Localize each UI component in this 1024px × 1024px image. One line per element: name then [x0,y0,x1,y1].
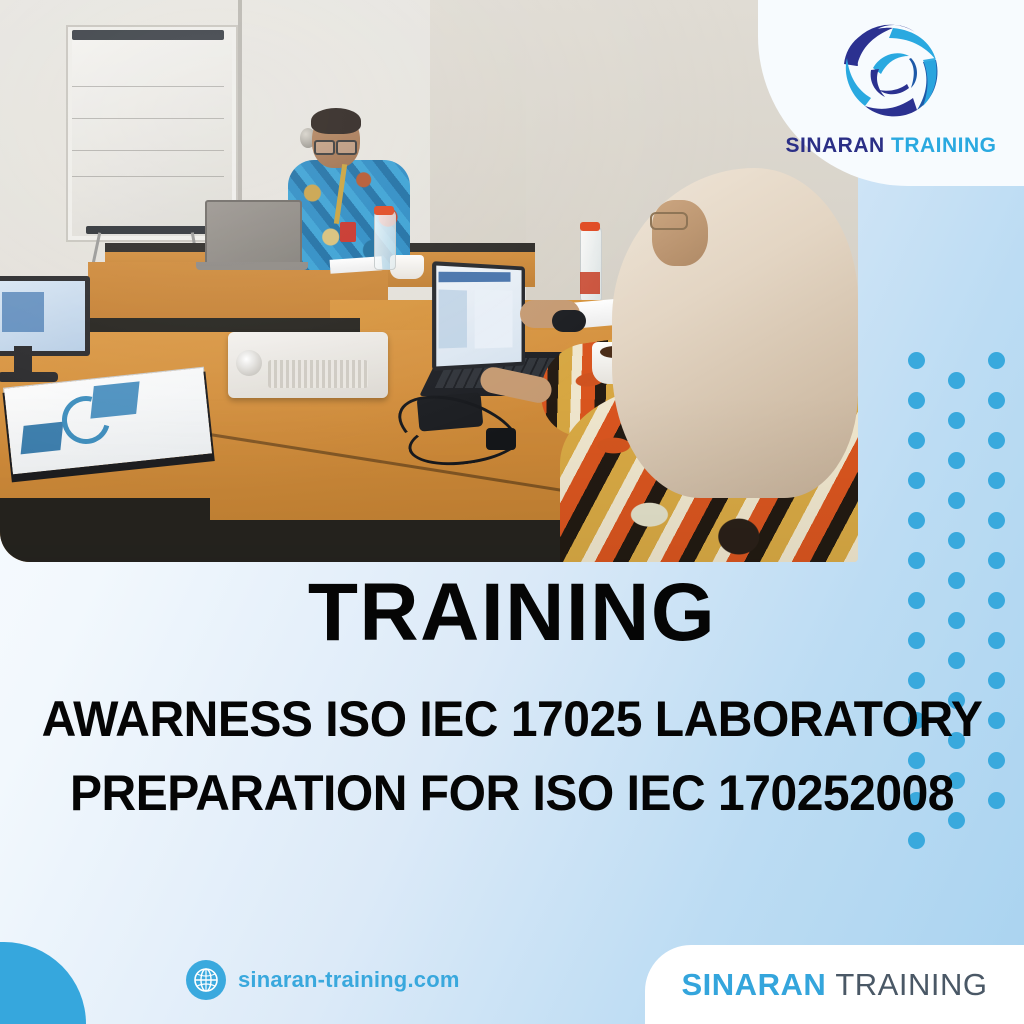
subtitle-line-1: AWARNESS ISO IEC 17025 LABORATORY [28,682,996,756]
laptop-back-screen [205,200,302,266]
footer-brand-panel: SINARAN TRAINING [645,945,1024,1024]
table-edge-dark [0,498,210,562]
globe-icon [186,960,226,1000]
flipchart-clamp [72,30,224,40]
man-hair [311,108,361,134]
flipchart-line [72,150,224,151]
logo-word-sinaran: SINARAN [785,134,884,157]
sinaran-swirl-logo-icon [831,12,951,132]
subtitle-line-2: PREPARATION FOR ISO IEC 170252008 [28,756,996,830]
laptop-back-base [196,262,308,270]
man-glasses-right [336,140,357,155]
poster-canvas: SINARAN TRAINING [0,0,1024,1024]
poster-subtitle: AWARNESS ISO IEC 17025 LABORATORY PREPAR… [28,682,996,830]
logo-wordmark: SINARAN TRAINING [785,134,996,158]
projector-lens [236,350,262,376]
laptop-screen-panel-left [439,290,467,349]
bottle-cap [374,206,394,215]
flipchart-line [72,176,224,177]
poster-title: TRAINING [0,572,1024,654]
woman-glasses [650,212,688,230]
wall-panel [430,0,526,262]
flipchart-line [72,118,224,119]
power-plug [486,428,516,450]
woman-face [652,200,708,266]
flipchart-line [72,86,224,87]
binder-blue-shape [21,422,64,455]
website-url-text: sinaran-training.com [238,967,460,993]
website-link[interactable]: sinaran-training.com [186,960,460,1000]
logo-word-training: TRAINING [891,134,997,157]
monitor-slide [2,292,44,332]
laptop-screen-panel-right [475,289,513,348]
footer-brand-sinaran: SINARAN [682,967,827,1002]
projector-vent [268,360,368,388]
monitor-stand [14,346,32,374]
footer-brand-training: TRAINING [835,967,987,1002]
computer-mouse [552,310,586,332]
footer-brand-wordmark: SINARAN TRAINING [682,967,988,1003]
footer-corner-accent [0,942,86,1024]
laptop-screen-header [439,272,511,282]
water-bottle-back [374,210,396,270]
monitor-foot [0,372,58,382]
bottle-cap [580,222,600,231]
bottle-label [580,272,600,294]
man-badge [340,222,356,242]
flipchart-base [86,226,214,234]
training-photo [0,0,858,562]
man-glasses-left [314,140,335,155]
woman-hijab [612,168,858,498]
